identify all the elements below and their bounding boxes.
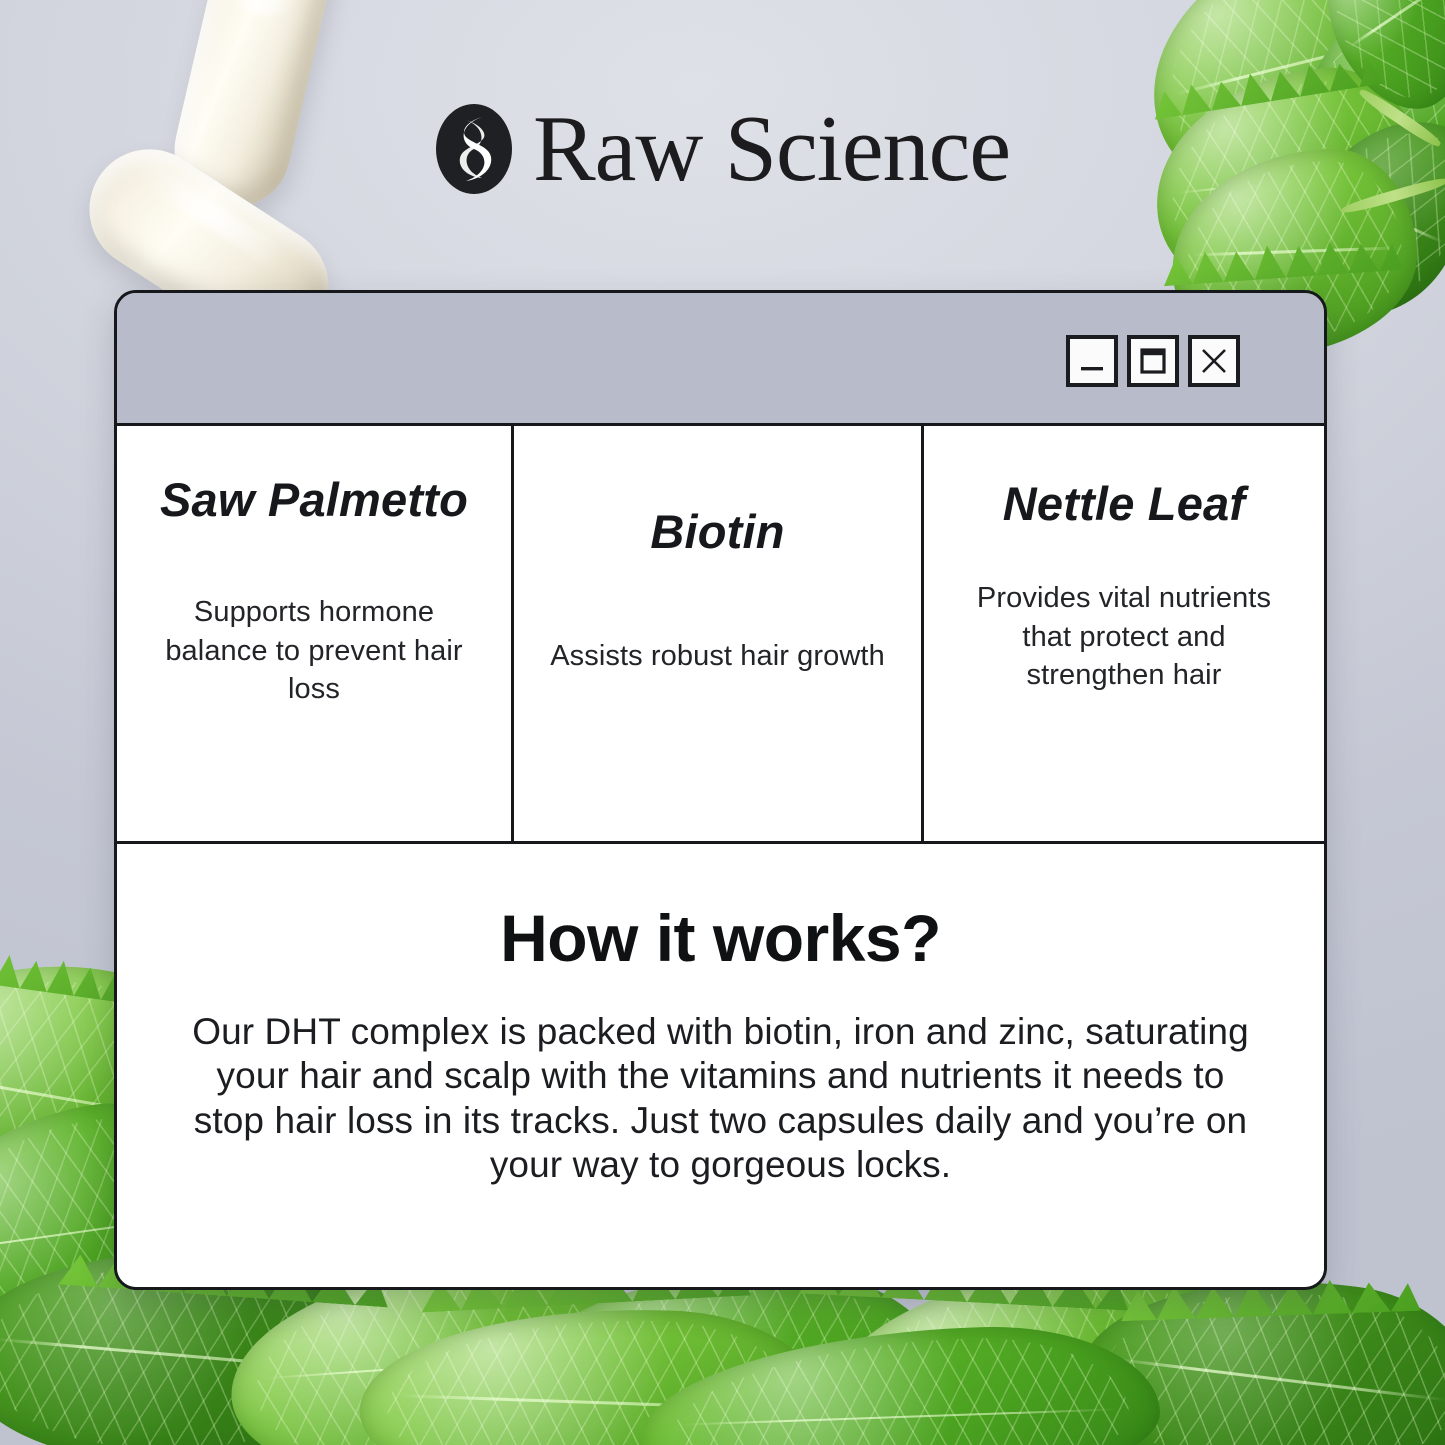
- ingredient-card-saw-palmetto: Saw Palmetto Supports hormone balance to…: [117, 426, 511, 841]
- ingredient-description: Assists robust hair growth: [550, 637, 885, 675]
- maximize-button[interactable]: [1127, 335, 1179, 387]
- raw-science-monogram-icon: [435, 103, 513, 195]
- minimize-button[interactable]: [1066, 335, 1118, 387]
- brand-name: Raw Science: [533, 102, 1010, 196]
- ingredient-description: Supports hormone balance to prevent hair…: [145, 593, 483, 708]
- ingredient-columns: Saw Palmetto Supports hormone balance to…: [117, 426, 1324, 844]
- ingredient-name: Biotin: [650, 504, 784, 559]
- window-controls: [1066, 335, 1240, 387]
- ingredient-card-biotin: Biotin Assists robust hair growth: [511, 426, 921, 841]
- poster-canvas: Raw Science: [0, 0, 1445, 1445]
- window-titlebar[interactable]: [117, 293, 1324, 426]
- close-button[interactable]: [1188, 335, 1240, 387]
- window-content: Saw Palmetto Supports hormone balance to…: [117, 426, 1324, 1287]
- minimize-icon: [1077, 346, 1107, 376]
- maximize-icon: [1138, 346, 1168, 376]
- how-it-works-body: Our DHT complex is packed with biotin, i…: [179, 1010, 1262, 1188]
- ingredient-name: Nettle Leaf: [1003, 476, 1245, 531]
- ingredient-name: Saw Palmetto: [160, 472, 468, 527]
- brand-lockup: Raw Science: [0, 94, 1445, 204]
- close-icon: [1199, 346, 1229, 376]
- ingredient-description: Provides vital nutrients that protect an…: [952, 579, 1296, 694]
- app-window: Saw Palmetto Supports hormone balance to…: [114, 290, 1327, 1290]
- ingredient-card-nettle-leaf: Nettle Leaf Provides vital nutrients tha…: [921, 426, 1324, 841]
- how-it-works-title: How it works?: [179, 900, 1262, 976]
- how-it-works-section: How it works? Our DHT complex is packed …: [117, 844, 1324, 1287]
